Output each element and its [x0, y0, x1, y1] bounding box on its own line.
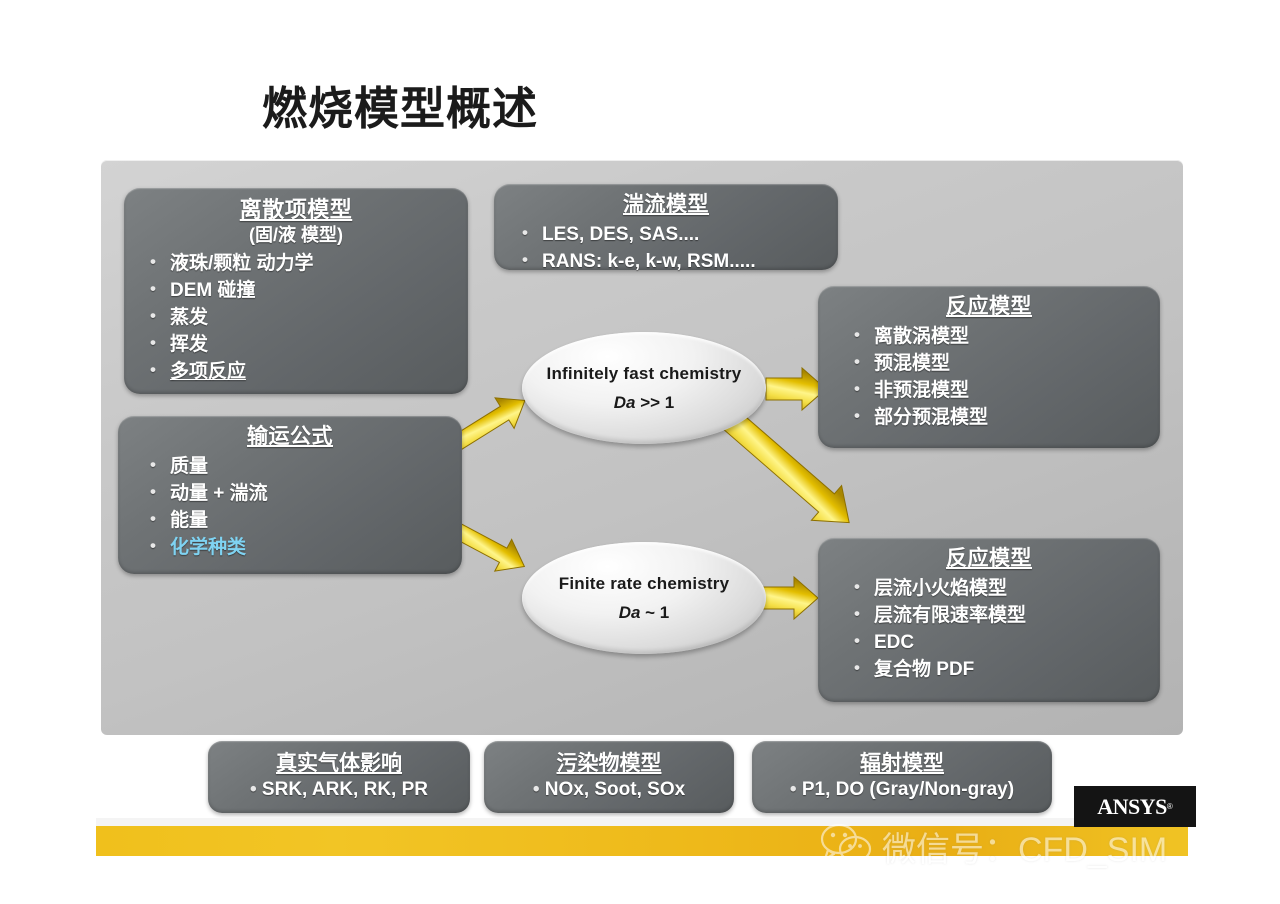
list-item: 质量 — [150, 454, 452, 481]
box-radiation-model[interactable]: 辐射模型 P1, DO (Gray/Non-gray) — [752, 741, 1052, 813]
box-reaction-model-top[interactable]: 反应模型 离散涡模型 预混模型 非预混模型 部分预混模型 — [818, 286, 1160, 448]
list-item: LES, DES, SAS.... — [522, 222, 828, 249]
ellipse-finite-damkohler: Da ~ 1 — [619, 603, 670, 623]
page-title: 燃烧模型概述 — [262, 84, 538, 134]
box-radiation-item: P1, DO (Gray/Non-gray) — [766, 779, 1038, 801]
box-pollutant-item: NOx, Soot, SOx — [498, 779, 720, 801]
list-item: 层流小火焰模型 — [854, 576, 1150, 603]
list-item: 离散涡模型 — [854, 324, 1150, 351]
list-item: RANS: k-e, k-w, RSM..... — [522, 249, 828, 276]
box-reaction-top-title: 反应模型 — [828, 294, 1150, 320]
list-item: 能量 — [150, 508, 452, 535]
box-reaction-model-bottom[interactable]: 反应模型 层流小火焰模型 层流有限速率模型 EDC 复合物 PDF — [818, 538, 1160, 702]
box-pollutant-model[interactable]: 污染物模型 NOx, Soot, SOx — [484, 741, 734, 813]
box-transport-title: 输运公式 — [128, 424, 452, 450]
box-discrete-subtitle: (固/液 模型) — [134, 224, 458, 247]
box-real-gas-title: 真实气体影响 — [222, 747, 456, 777]
ansys-logo-tm: ® — [1167, 802, 1173, 811]
ellipse-finite-label: Finite rate chemistry — [559, 574, 729, 594]
box-reaction-bottom-list: 层流小火焰模型 层流有限速率模型 EDC 复合物 PDF — [828, 576, 1150, 684]
list-item-species: 化学种类 — [150, 535, 452, 562]
box-transport-equations[interactable]: 输运公式 质量 动量 + 湍流 能量 化学种类 — [118, 416, 462, 574]
list-item: 非预混模型 — [854, 378, 1150, 405]
box-radiation-title: 辐射模型 — [766, 747, 1038, 777]
list-item: 挥发 — [150, 332, 458, 359]
box-pollutant-title: 污染物模型 — [498, 747, 720, 777]
ellipse-infinitely-fast-chemistry[interactable]: Infinitely fast chemistry Da >> 1 — [522, 332, 766, 444]
box-turbulence-title: 湍流模型 — [504, 192, 828, 218]
box-discrete-list: 液珠/颗粒 动力学 DEM 碰撞 蒸发 挥发 多项反应 — [134, 251, 458, 386]
list-item: 部分预混模型 — [854, 405, 1150, 432]
ansys-logo-text: ANSYS — [1097, 794, 1167, 820]
list-item: 多项反应 — [150, 359, 458, 386]
ellipse-fast-damkohler: Da >> 1 — [614, 393, 675, 413]
box-discrete-title: 离散项模型 — [134, 196, 458, 224]
list-item: 蒸发 — [150, 305, 458, 332]
ellipse-finite-rate-chemistry[interactable]: Finite rate chemistry Da ~ 1 — [522, 542, 766, 654]
ansys-logo: ANSYS® — [1074, 786, 1196, 827]
list-item: 层流有限速率模型 — [854, 603, 1150, 630]
box-discrete-phase-model[interactable]: 离散项模型 (固/液 模型) 液珠/颗粒 动力学 DEM 碰撞 蒸发 挥发 多项… — [124, 188, 468, 394]
box-transport-list: 质量 动量 + 湍流 能量 化学种类 — [128, 454, 452, 562]
box-turbulence-list: LES, DES, SAS.... RANS: k-e, k-w, RSM...… — [504, 222, 828, 276]
box-real-gas-effects[interactable]: 真实气体影响 SRK, ARK, RK, PR — [208, 741, 470, 813]
list-item: DEM 碰撞 — [150, 278, 458, 305]
list-item: 预混模型 — [854, 351, 1150, 378]
ellipse-fast-label: Infinitely fast chemistry — [547, 364, 742, 384]
list-item: 动量 + 湍流 — [150, 481, 452, 508]
box-real-gas-item: SRK, ARK, RK, PR — [222, 779, 456, 801]
list-item: EDC — [854, 630, 1150, 657]
footer-gold-band — [96, 826, 1188, 856]
box-turbulence-model[interactable]: 湍流模型 LES, DES, SAS.... RANS: k-e, k-w, R… — [494, 184, 838, 270]
list-item: 液珠/颗粒 动力学 — [150, 251, 458, 278]
list-item: 复合物 PDF — [854, 657, 1150, 684]
box-reaction-bottom-title: 反应模型 — [828, 546, 1150, 572]
box-reaction-top-list: 离散涡模型 预混模型 非预混模型 部分预混模型 — [828, 324, 1150, 432]
